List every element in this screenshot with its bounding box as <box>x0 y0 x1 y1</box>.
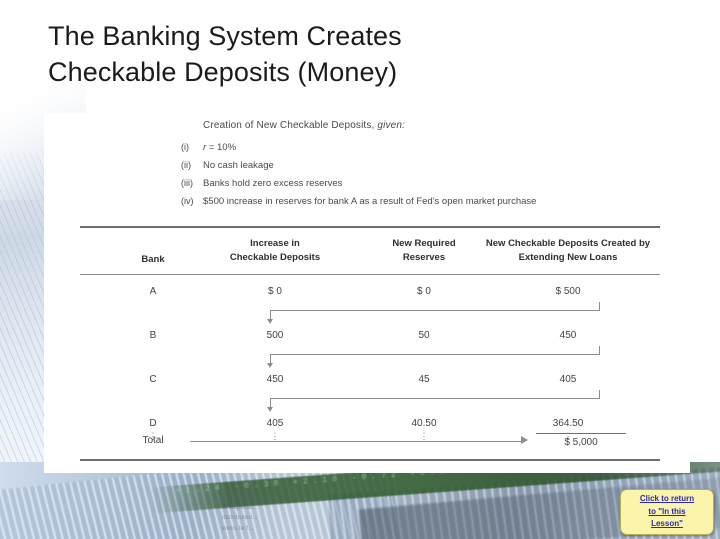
slide-canvas: +1.24 -0.38 +2.10 -0.72 +0.95 +1.63 -0.4… <box>0 0 720 539</box>
cell-bank: A <box>124 286 182 297</box>
table-rule-bottom <box>80 459 660 461</box>
column-header-increase-line-1: Increase in <box>200 237 350 251</box>
cell-loans: $ 500 <box>476 286 660 297</box>
assumption-body: = 10% <box>206 142 236 153</box>
column-header-increase: Increase in Checkable Deposits <box>200 237 350 265</box>
column-header-new-loans: New Checkable Deposits Created by Extend… <box>476 237 660 265</box>
page-title-line-1: The Banking System Creates <box>48 19 648 55</box>
assumption-text: $500 increase in reserves for bank A as … <box>203 196 536 207</box>
connector-horizontal <box>270 310 600 311</box>
exhibit-caption-text: Creation of New Checkable Deposits, <box>203 120 377 131</box>
assumption-marker: (i) <box>181 142 203 152</box>
table-total-row: Total $ 5,000 <box>80 430 660 454</box>
cell-required: 45 <box>364 374 484 385</box>
column-header-loans-line-2: Extending New Loans <box>476 251 660 265</box>
cell-required: 40.50 <box>364 418 484 429</box>
cell-loans: 405 <box>476 374 660 385</box>
connector-horizontal <box>270 354 600 355</box>
cell-bank: D <box>124 418 182 429</box>
page-title: The Banking System Creates Checkable Dep… <box>48 19 648 90</box>
cell-increase: 450 <box>200 374 350 385</box>
connector-arrowhead-icon <box>267 363 273 368</box>
column-header-increase-line-2: Checkable Deposits <box>200 251 350 265</box>
assumption-text: No cash leakage <box>203 160 274 171</box>
return-to-lesson-label: Click to return to "In this Lesson" <box>637 493 697 530</box>
assumption-text: Banks hold zero excess reserves <box>203 178 342 189</box>
total-arrowhead-icon <box>521 436 528 444</box>
assumption-marker: (iv) <box>181 196 203 206</box>
cell-required: 50 <box>364 330 484 341</box>
exhibit-card: Creation of New Checkable Deposits, give… <box>44 113 690 473</box>
table-rule-top <box>80 226 660 228</box>
cell-increase: 405 <box>200 418 350 429</box>
assumption-item: (i) r = 10% <box>181 142 536 160</box>
column-header-loans-line-1: New Checkable Deposits Created by <box>476 237 660 251</box>
cell-increase: $ 0 <box>200 286 350 297</box>
flow-connector-b-to-c <box>80 346 660 368</box>
total-value: $ 5,000 <box>536 433 626 448</box>
assumption-item: (iv) $500 increase in reserves for bank … <box>181 196 536 214</box>
table-header-row: Bank Increase in Checkable Deposits New … <box>80 229 660 273</box>
total-label: Total <box>124 435 182 446</box>
connector-arrowhead-icon <box>267 319 273 324</box>
cell-bank: B <box>124 330 182 341</box>
exhibit-caption-given: given: <box>377 120 405 131</box>
return-label-line-2: to "In this <box>640 506 694 518</box>
column-header-required-line-1: New Required <box>364 237 484 251</box>
column-header-required-line-2: Reserves <box>364 251 484 265</box>
cell-loans: 450 <box>476 330 660 341</box>
return-to-lesson-button[interactable]: Click to return to "In this Lesson" <box>620 489 714 535</box>
page-title-line-2: Checkable Deposits (Money) <box>48 55 648 91</box>
background-photo-bottom: +1.24 -0.38 +2.10 -0.72 +0.95 +1.63 -0.4… <box>0 462 720 539</box>
connector-arrowhead-icon <box>267 407 273 412</box>
return-label-line-3: Lesson" <box>640 518 694 530</box>
return-label-line-1: Click to return <box>640 493 694 505</box>
cell-bank: C <box>124 374 182 385</box>
column-header-bank: Bank <box>124 253 182 267</box>
assumption-list: (i) r = 10% (ii) No cash leakage (iii) B… <box>181 142 536 214</box>
flow-connector-a-to-b <box>80 302 660 324</box>
cell-increase: 500 <box>200 330 350 341</box>
cell-loans: 364.50 <box>476 418 660 429</box>
assumption-item: (ii) No cash leakage <box>181 160 536 178</box>
column-header-required-reserves: New Required Reserves <box>364 237 484 265</box>
total-arrow-line <box>190 441 524 442</box>
connector-horizontal <box>270 398 600 399</box>
assumption-item: (iii) Banks hold zero excess reserves <box>181 178 536 196</box>
table-rule-under-header <box>80 274 660 275</box>
assumption-text: r = 10% <box>203 142 236 153</box>
assumption-marker: (iii) <box>181 178 203 188</box>
exhibit-caption: Creation of New Checkable Deposits, give… <box>203 120 405 131</box>
assumption-marker: (ii) <box>181 160 203 170</box>
flow-connector-c-to-d <box>80 390 660 412</box>
cell-required: $ 0 <box>364 286 484 297</box>
